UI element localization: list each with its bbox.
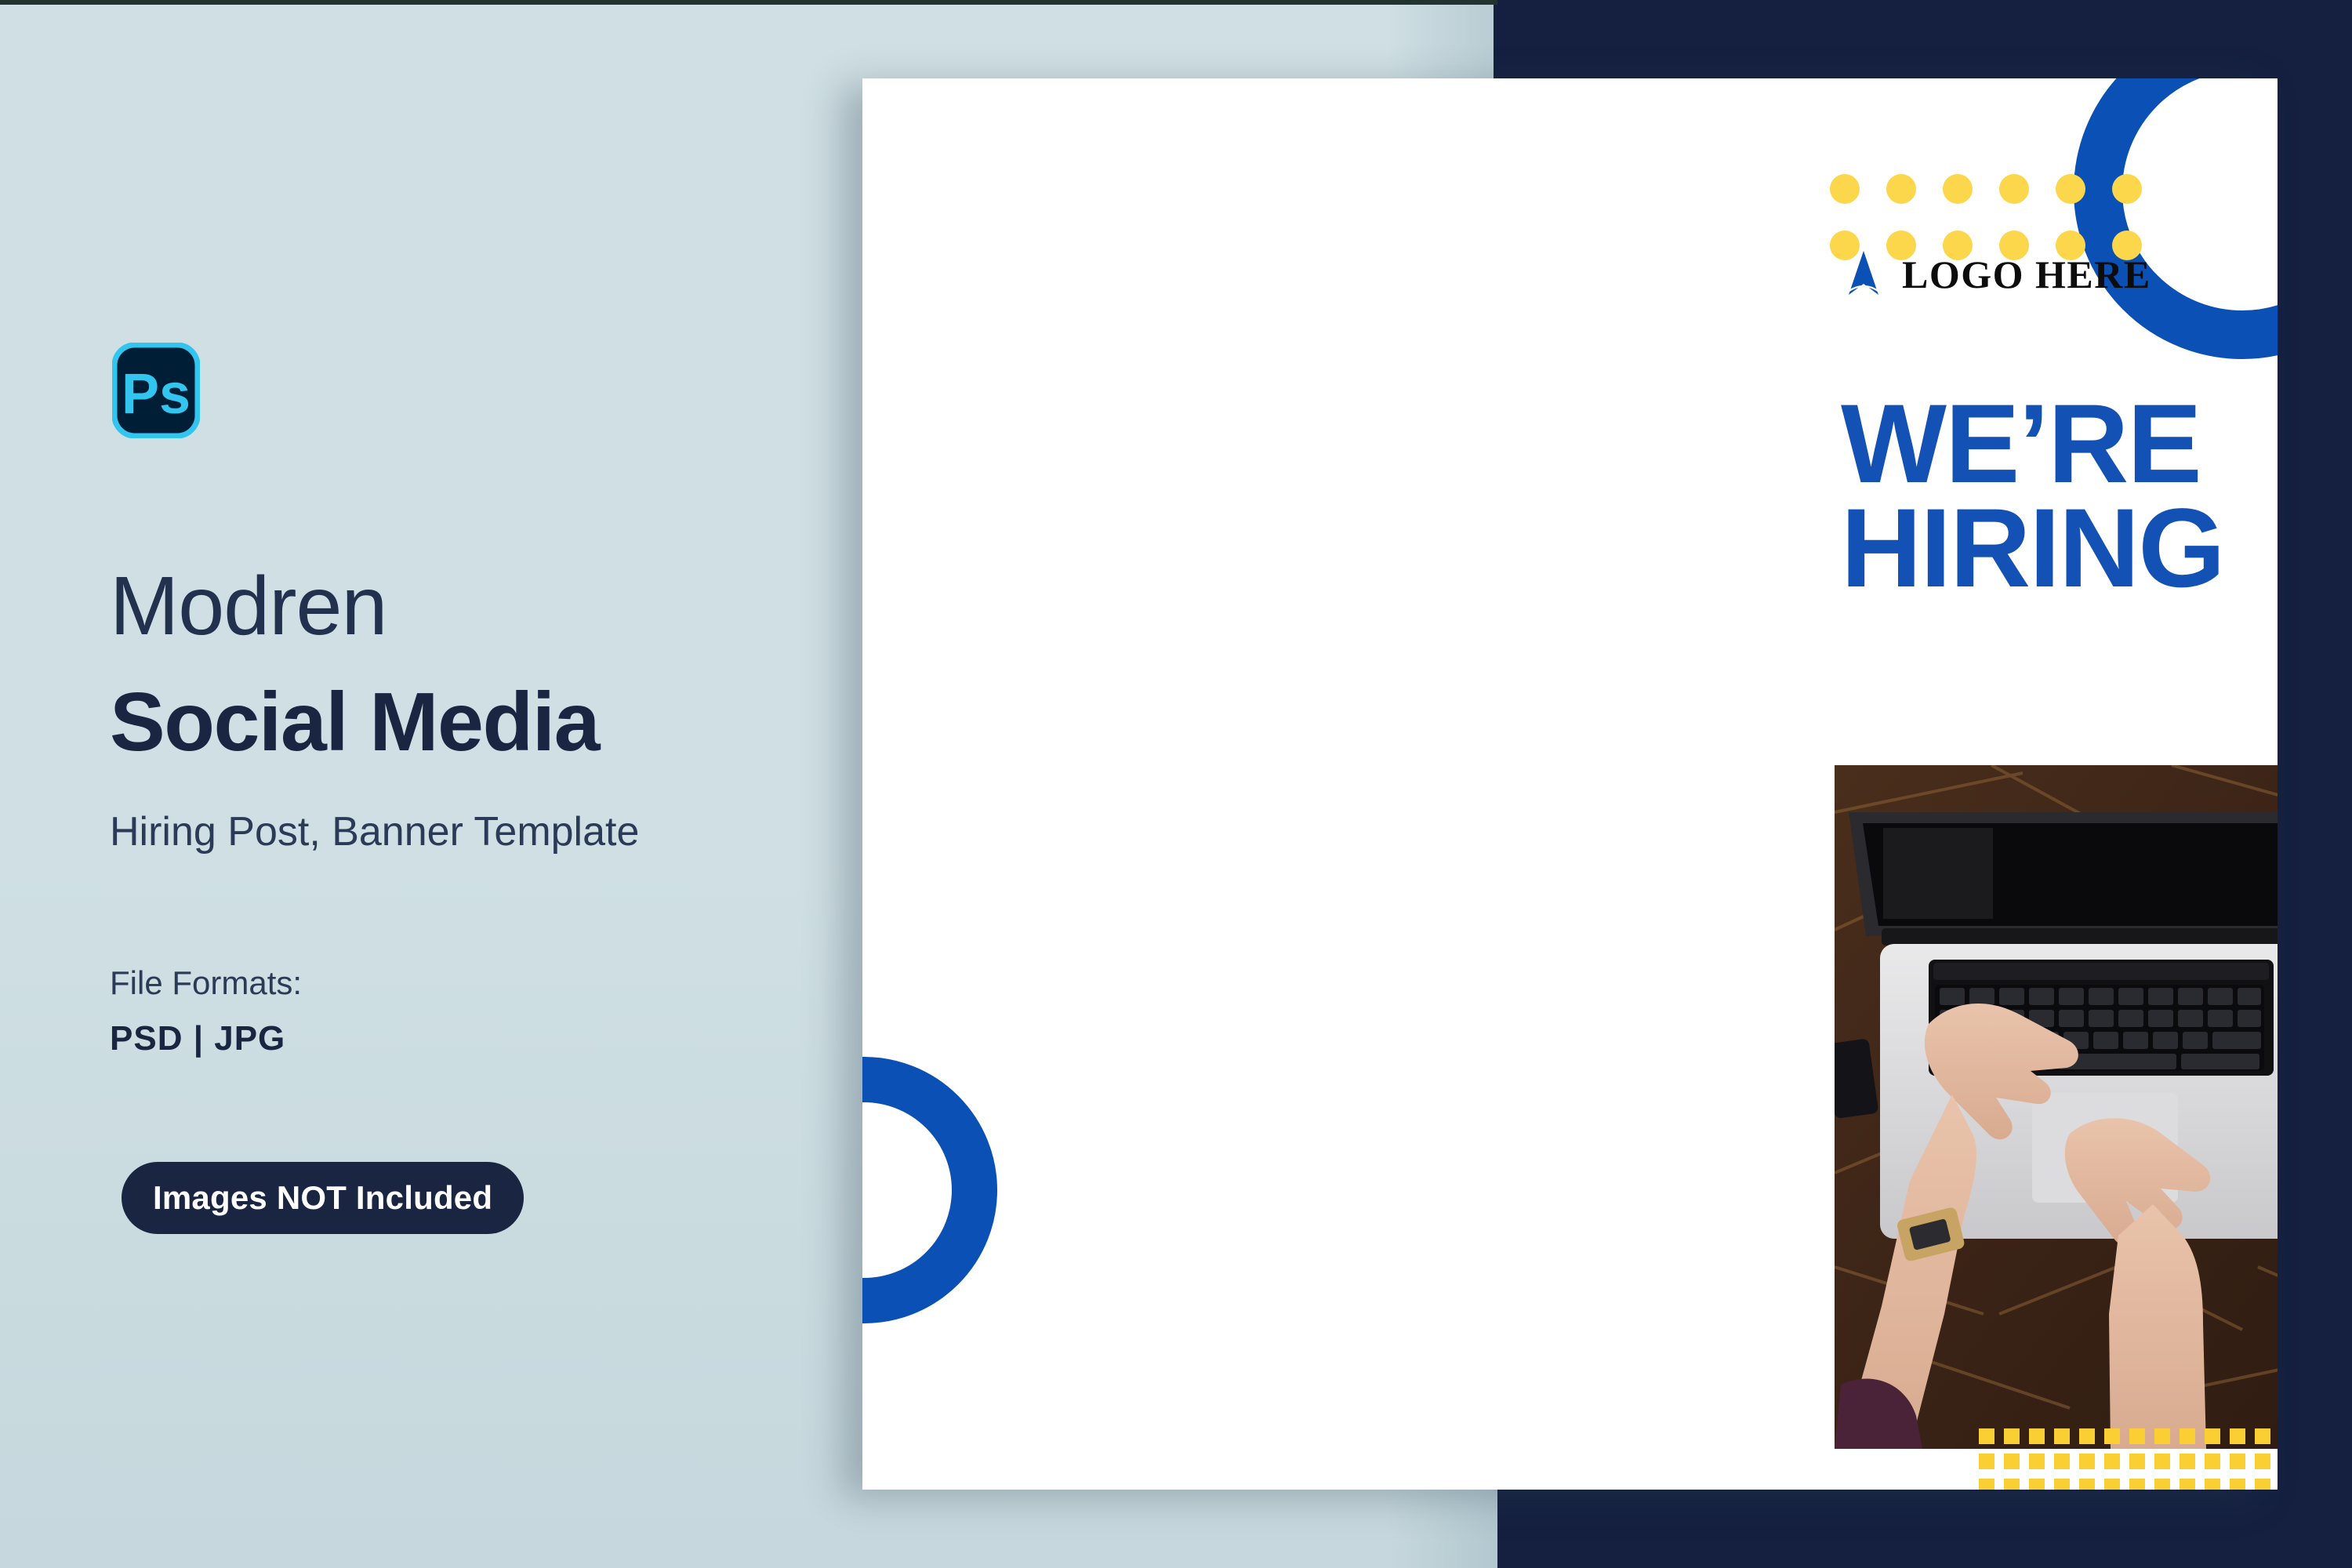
logo-text: LOGO HERE (1902, 252, 2151, 297)
images-not-included-badge: Images NOT Included (122, 1162, 524, 1234)
yellow-square-grid (1979, 1428, 2270, 1490)
preview-title-bold: Social Media (110, 681, 599, 764)
navy-top-strip (1494, 0, 2352, 80)
file-formats-label: File Formats: (110, 964, 302, 1002)
page-title: WE’RE HIRING (1841, 392, 2278, 601)
decorative-ring-left (862, 1057, 997, 1323)
top-edge-strip (0, 0, 1497, 5)
svg-text:Ps: Ps (122, 363, 191, 426)
arrow-triangle-logo-icon (1842, 249, 1885, 299)
headline-line2: HIRING (1841, 496, 2278, 601)
photoshop-icon: Ps (112, 343, 200, 438)
hands-typing-on-laptop-photo (1835, 765, 2278, 1449)
preview-subtitle: Hiring Post, Banner Template (110, 806, 674, 858)
poster-logo: LOGO HERE (1842, 249, 2151, 299)
file-formats-value: PSD | JPG (110, 1019, 285, 1058)
poster-canvas: LOGO HERE WE’RE HIRING (862, 78, 2278, 1490)
preview-title-light: Modren (110, 564, 387, 648)
